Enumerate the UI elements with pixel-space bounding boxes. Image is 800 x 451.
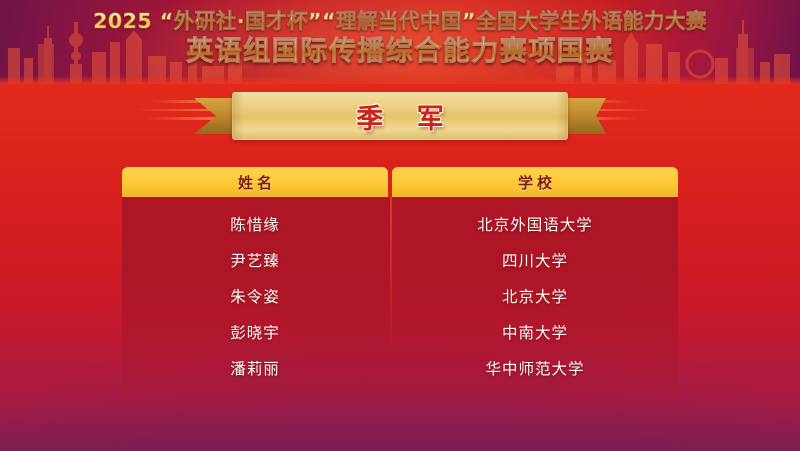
table-row: 陈惜缘 北京外国语大学 <box>122 206 678 242</box>
table-row: 潘莉丽 华中师范大学 <box>122 350 678 386</box>
award-rank-label: 季 军 <box>232 92 568 140</box>
table-header-row: 姓名 学校 <box>122 167 678 197</box>
title-block: 2025 “外研社·国才杯”“理解当代中国”全国大学生外语能力大赛 英语组国际传… <box>0 8 800 68</box>
table-row: 彭晓宇 中南大学 <box>122 314 678 350</box>
cell-name: 潘莉丽 <box>122 357 388 379</box>
table-body: 陈惜缘 北京外国语大学 尹艺臻 四川大学 朱令姿 北京大学 彭晓宇 中南大学 潘… <box>122 197 678 423</box>
cell-school: 华中师范大学 <box>392 357 678 379</box>
cell-school: 四川大学 <box>392 249 678 271</box>
award-board: 2025 “外研社·国才杯”“理解当代中国”全国大学生外语能力大赛 英语组国际传… <box>0 0 800 451</box>
winners-table: 姓名 学校 陈惜缘 北京外国语大学 尹艺臻 四川大学 朱令姿 北京大学 彭晓宇 … <box>122 167 678 427</box>
cell-school: 北京外国语大学 <box>392 213 678 235</box>
cell-name: 朱令姿 <box>122 285 388 307</box>
cell-school: 中南大学 <box>392 321 678 343</box>
cell-name: 陈惜缘 <box>122 213 388 235</box>
cell-name: 彭晓宇 <box>122 321 388 343</box>
competition-title-line1: 2025 “外研社·国才杯”“理解当代中国”全国大学生外语能力大赛 <box>0 8 800 34</box>
cell-name: 尹艺臻 <box>122 249 388 271</box>
competition-title-line2: 英语组国际传播综合能力赛项国赛 <box>0 35 800 68</box>
cell-school: 北京大学 <box>392 285 678 307</box>
table-row: 朱令姿 北京大学 <box>122 278 678 314</box>
column-header-school: 学校 <box>392 167 678 197</box>
column-divider <box>390 197 392 347</box>
award-ribbon: 季 军 <box>232 92 568 140</box>
column-header-name: 姓名 <box>122 167 388 197</box>
table-row: 尹艺臻 四川大学 <box>122 242 678 278</box>
